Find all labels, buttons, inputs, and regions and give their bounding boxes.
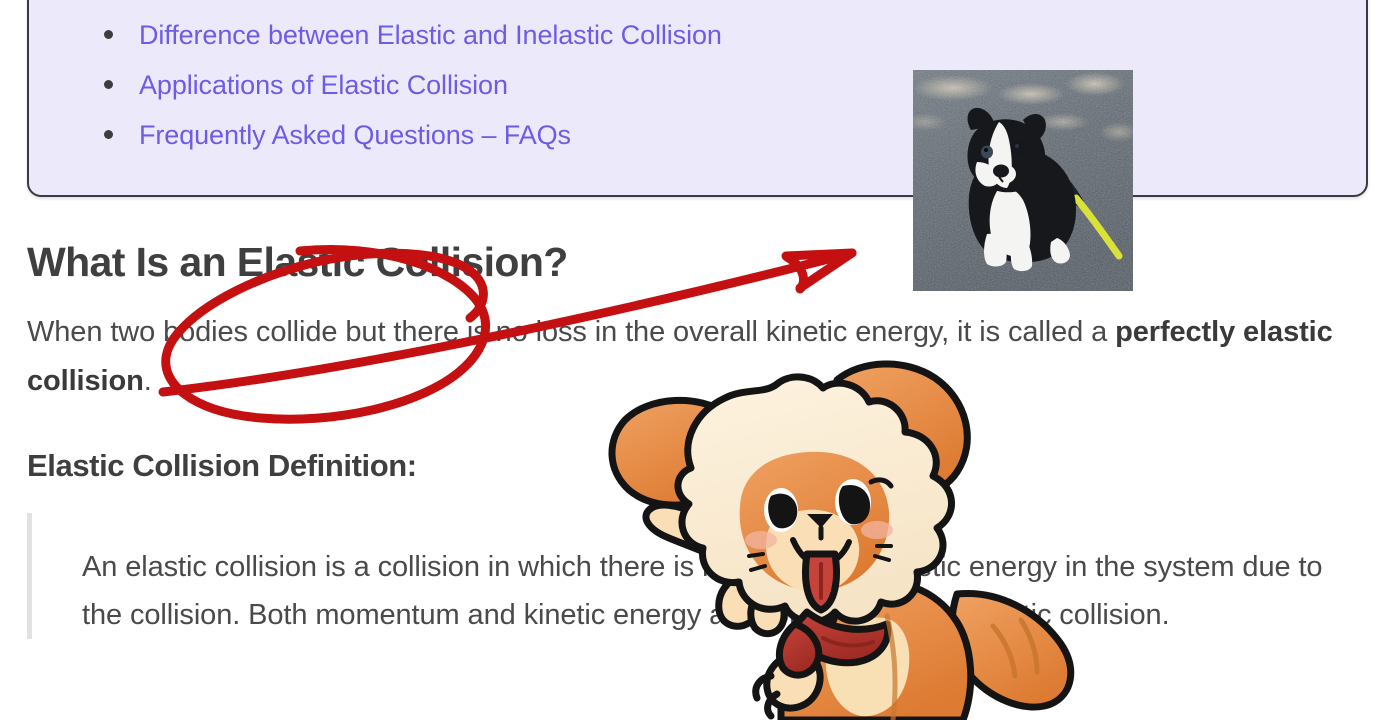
section-heading-definition: Elastic Collision Definition: [27, 406, 1373, 484]
intro-paragraph: When two bodies collide but there is no … [27, 286, 1373, 406]
toc-item[interactable]: Applications of Elastic Collision [104, 60, 722, 110]
definition-quote-text: An elastic collision is a collision in w… [82, 543, 1337, 639]
toc-link-difference[interactable]: Difference between Elastic and Inelastic… [139, 20, 722, 50]
toc-link-faqs[interactable]: Frequently Asked Questions – FAQs [139, 120, 571, 150]
table-of-contents-list: Difference between Elastic and Inelastic… [104, 10, 722, 160]
bullet-icon [104, 80, 113, 89]
toc-item[interactable]: Difference between Elastic and Inelastic… [104, 10, 722, 60]
article-page: Difference between Elastic and Inelastic… [0, 0, 1400, 720]
bullet-icon [104, 30, 113, 39]
page-title: What Is an Elastic Collision? [27, 240, 1373, 286]
bullet-icon [104, 130, 113, 139]
table-of-contents-box: Difference between Elastic and Inelastic… [27, 0, 1368, 197]
toc-link-applications[interactable]: Applications of Elastic Collision [139, 70, 508, 100]
intro-text-suffix: . [144, 365, 152, 397]
intro-text-prefix: When two bodies collide but there is no … [27, 316, 1115, 348]
definition-blockquote: An elastic collision is a collision in w… [27, 513, 1337, 639]
toc-item[interactable]: Frequently Asked Questions – FAQs [104, 110, 722, 160]
article-content: What Is an Elastic Collision? When two b… [27, 240, 1373, 639]
